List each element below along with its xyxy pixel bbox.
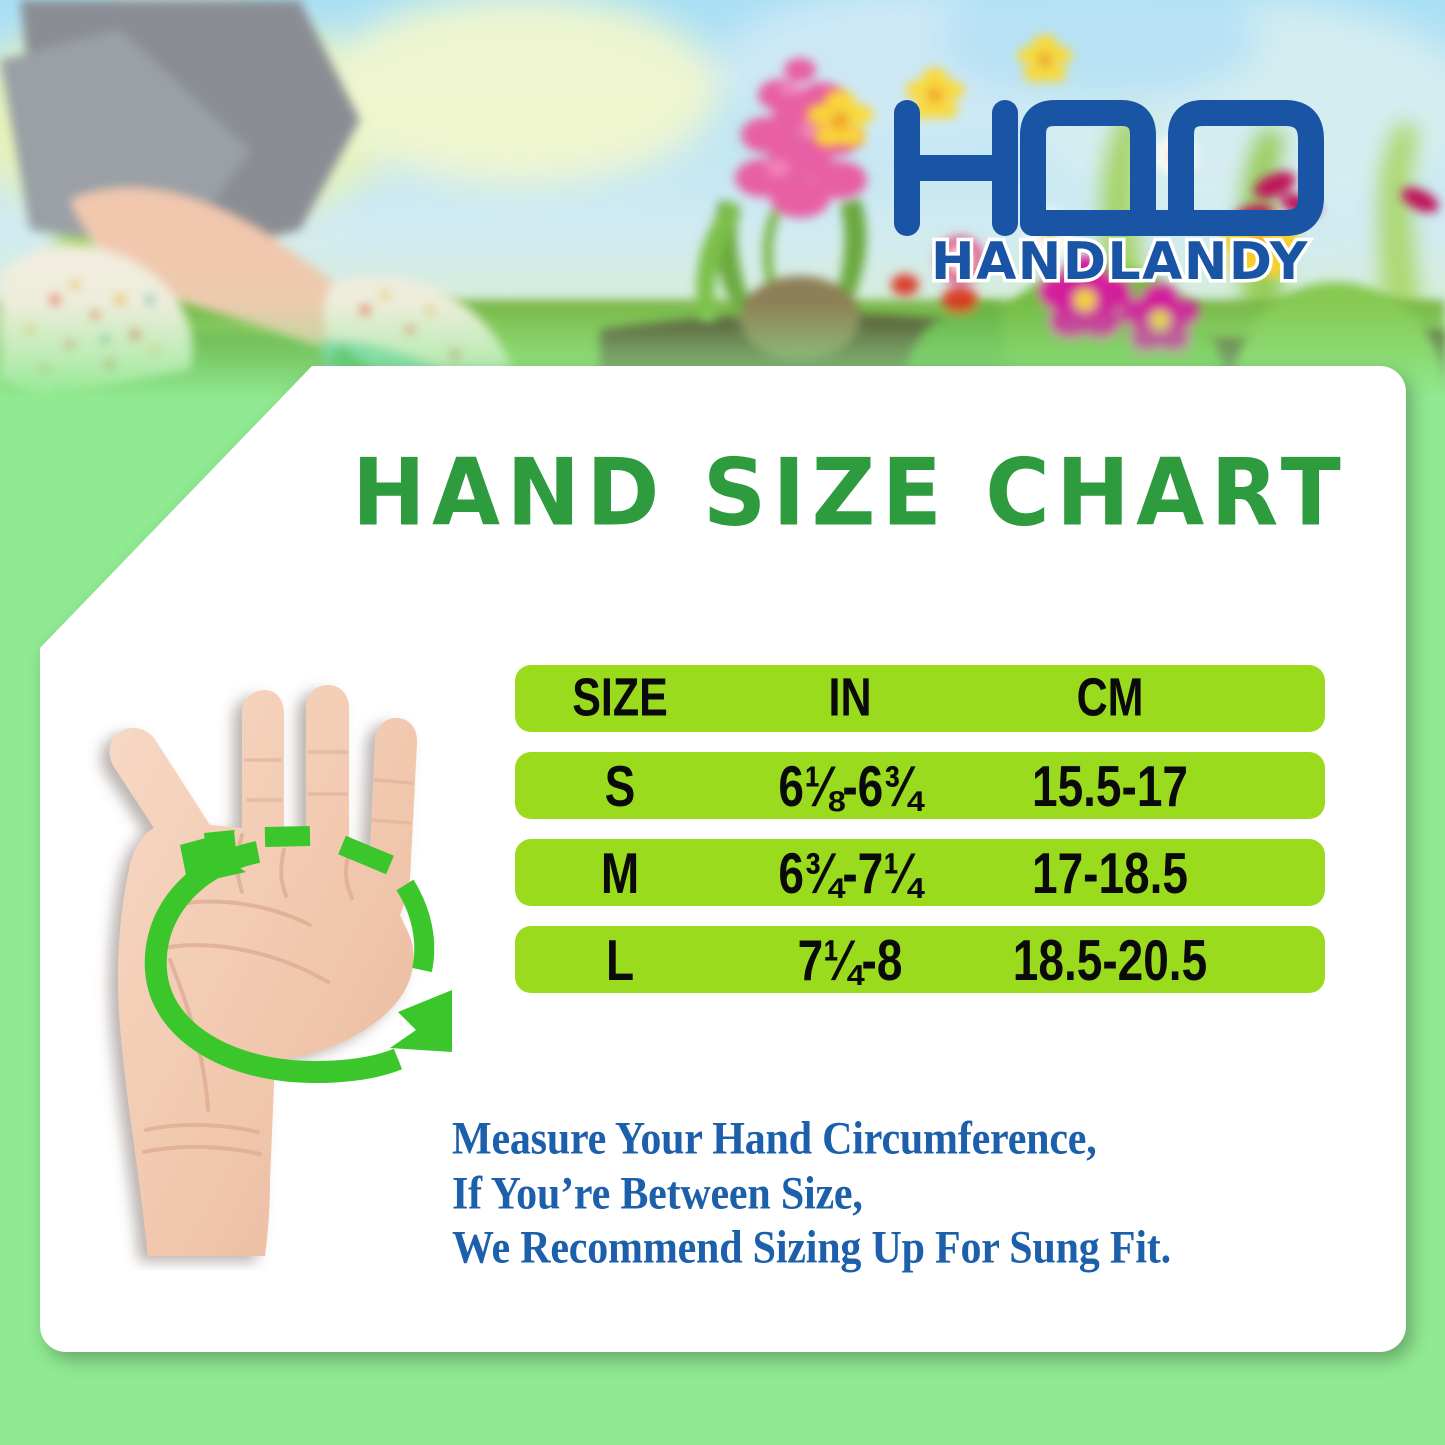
note-line-2: If You’re Between Size, — [452, 1163, 1352, 1224]
table-row: L 7¼-8 18.5-20.5 — [515, 926, 1325, 993]
table-row: S 6⅛-6¾ 15.5-17 — [515, 752, 1325, 819]
measure-instructions: Measure Your Hand Circumference, If You’… — [452, 1112, 1352, 1276]
page-title: HAND SIZE CHART — [352, 446, 1423, 539]
cell-size: M — [515, 844, 725, 902]
header-in: IN — [725, 672, 975, 726]
hand-measure-diagram — [60, 660, 480, 1270]
header-cm: CM — [975, 672, 1245, 726]
size-chart-poster: HANDLANDY HAND SIZE CHART — [0, 0, 1445, 1445]
table-row: M 6¾-7¼ 17-18.5 — [515, 839, 1325, 906]
logo-wordmark: HANDLANDY — [931, 232, 1309, 285]
cell-in: 7¼-8 — [725, 931, 975, 989]
handlandy-logo: HANDLANDY — [885, 95, 1355, 285]
size-table: SIZE IN CM S 6⅛-6¾ 15.5-17 M 6¾-7¼ 17-18… — [515, 665, 1325, 993]
hand-illustration — [60, 660, 480, 1270]
cell-size: S — [515, 757, 725, 815]
table-header-row: SIZE IN CM — [515, 665, 1325, 732]
cell-in: 6¾-7¼ — [725, 844, 975, 902]
cell-cm: 17-18.5 — [975, 844, 1245, 902]
note-line-3: We Recommend Sizing Up For Sung Fit. — [452, 1218, 1352, 1279]
logo-svg: HANDLANDY — [885, 95, 1355, 285]
note-line-1: Measure Your Hand Circumference, — [452, 1109, 1352, 1170]
cell-in: 6⅛-6¾ — [725, 757, 975, 815]
cell-size: L — [515, 931, 725, 989]
header-size: SIZE — [515, 672, 725, 726]
cell-cm: 18.5-20.5 — [975, 931, 1245, 989]
cell-cm: 15.5-17 — [975, 757, 1245, 815]
